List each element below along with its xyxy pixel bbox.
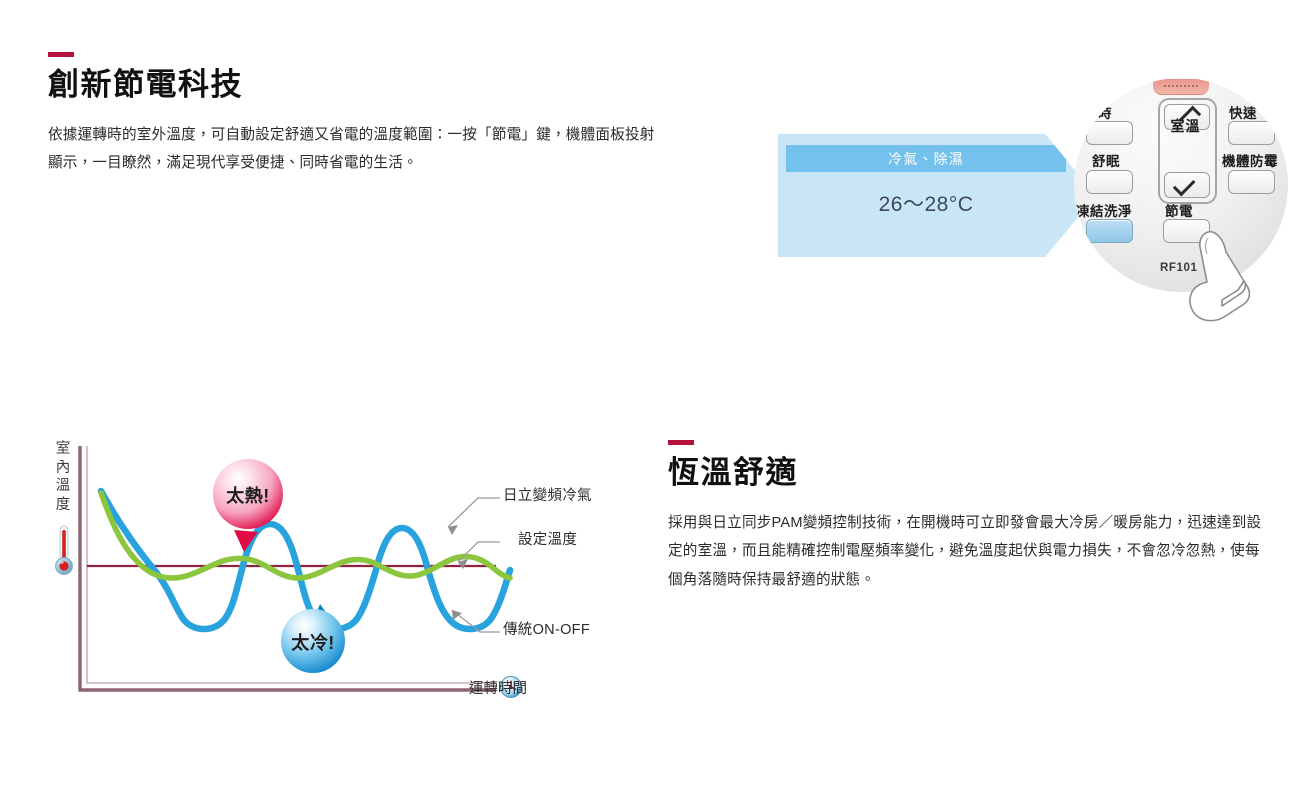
page-title-energy-saving: 創新節電科技 [48, 67, 668, 103]
button-label-power-save: 節電 [1165, 200, 1193, 220]
button-fast[interactable] [1228, 121, 1275, 145]
room-temp-rocker [1158, 98, 1217, 204]
remote-control-figure: 冷氣、除濕 26～28°C 定時 舒眠 凍結洗淨 室溫 節電 快速 機體防霉 [778, 78, 1288, 328]
section-body-energy-saving: 依據運轉時的室外溫度，可自動設定舒適又省電的溫度範圍：一按「節電」鍵，機體面板投… [48, 121, 662, 178]
section-body-constant-comfort: 採用與日立同步PAM變頻控制技術，在開機時可立即發會最大冷房／暖房能力，迅速達到… [668, 509, 1272, 594]
annotation-too-cold-label: 太冷! [278, 629, 348, 655]
section-energy-saving: 創新節電科技 依據運轉時的室外溫度，可自動設定舒適又省電的溫度範圍：一按「節電」… [48, 52, 668, 178]
pointing-hand-icon [1178, 228, 1268, 324]
chart-x-axis-label: 運轉時間 [469, 677, 527, 698]
accent-dash [48, 52, 74, 57]
temperature-range-banner: 冷氣、除濕 26～28°C [778, 134, 1096, 257]
legend-label-setpoint: 設定溫度 [518, 528, 577, 549]
chart-plot-area [48, 432, 568, 717]
annotation-too-hot-label: 太熱! [213, 482, 283, 508]
page-title-constant-comfort: 恆溫舒適 [668, 455, 1276, 491]
chart-leader-arrows [448, 525, 468, 620]
button-temp-down[interactable] [1164, 172, 1210, 198]
section-constant-comfort: 恆溫舒適 採用與日立同步PAM變頻控制技術，在開機時可立即發會最大冷房／暖房能力… [668, 440, 1276, 594]
temperature-comparison-chart: 室內溫度 [48, 432, 568, 717]
legend-label-inverter: 日立變頻冷氣 [503, 484, 592, 505]
button-sleep[interactable] [1086, 170, 1133, 194]
chevron-down-icon [1173, 174, 1196, 197]
button-label-sleep: 舒眠 [1092, 150, 1120, 170]
banner-mode-label: 冷氣、除濕 [786, 145, 1066, 172]
button-anti-mould[interactable] [1228, 170, 1275, 194]
button-label-anti-mould: 機體防霉 [1222, 150, 1278, 170]
banner-temperature-range: 26～28°C [786, 188, 1066, 218]
rocker-label-room-temp: 室溫 [1158, 116, 1213, 136]
button-label-fast: 快速 [1229, 102, 1257, 122]
button-timer[interactable] [1086, 121, 1133, 145]
legend-label-onoff: 傳統ON-OFF [503, 618, 590, 639]
button-label-timer: 定時 [1084, 102, 1112, 122]
accent-dash [668, 440, 694, 445]
chart-x-axis-caption: 運轉時間 [438, 677, 527, 698]
button-label-freeze-clean: 凍結洗淨 [1076, 200, 1132, 220]
button-freeze-clean[interactable] [1086, 219, 1133, 243]
ir-emitter-icon [1153, 79, 1209, 95]
